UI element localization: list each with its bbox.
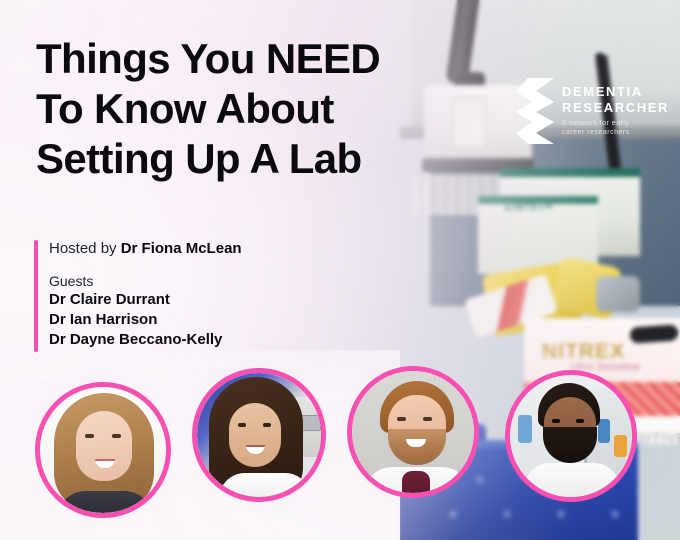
credits-body: Hosted by Dr Fiona McLean Guests Dr Clai… [34, 239, 354, 350]
avatar-eye-right [423, 417, 432, 421]
avatar-fiona-mclean [35, 382, 171, 518]
title-line-3: Setting Up A Lab [36, 134, 456, 184]
host-line: Hosted by Dr Fiona McLean [49, 239, 354, 259]
avatar-bg-bottle-2 [598, 419, 610, 443]
dementia-researcher-logo: DEMENTIA RESEARCHER A network for early … [516, 78, 666, 144]
avatar-dayne-beccano-kelly [505, 370, 637, 502]
podcast-cover: KIMTECH NITREX Ultra Sensitive EXAMINATI… [0, 0, 680, 540]
guest-name-1: Dr Claire Durrant [49, 290, 354, 310]
avatar-image [40, 387, 166, 513]
avatar-image [510, 375, 632, 497]
avatar-eye-right [576, 419, 584, 423]
zigzag-logo-icon [516, 78, 554, 144]
avatar-lab-coat [524, 463, 620, 497]
avatar-torso [56, 491, 154, 513]
avatar-eye-right [112, 434, 121, 438]
avatar-bg-bottle-3 [614, 435, 627, 457]
title-line-1: Things You NEED [36, 34, 456, 84]
credits-block: Hosted by Dr Fiona McLean Guests Dr Clai… [34, 239, 354, 350]
avatar-face [76, 411, 132, 481]
logo-line-1: DEMENTIA [562, 84, 669, 100]
host-name: Dr Fiona McLean [121, 240, 242, 257]
guest-name-3: Dr Dayne Beccano-Kelly [49, 330, 354, 350]
avatar-image [352, 371, 474, 493]
guests-label: Guests [49, 272, 354, 290]
avatar-bg-bottle-1 [518, 415, 532, 443]
avatar-ian-harrison [347, 366, 479, 498]
avatar-eye-left [397, 417, 406, 421]
avatar-claire-durrant [192, 368, 326, 502]
guest-name-2: Dr Ian Harrison [49, 310, 354, 330]
logo-tagline-1: A network for early [562, 119, 669, 128]
page-title: Things You NEED To Know About Setting Up… [36, 34, 456, 184]
hosted-by-label: Hosted by [49, 240, 121, 257]
avatar-shirt [402, 471, 430, 493]
title-line-2: To Know About [36, 84, 456, 134]
avatar-eye-right [263, 423, 271, 427]
credits-accent-bar [34, 240, 38, 352]
avatar-eye-left [85, 434, 94, 438]
avatar-image [197, 373, 321, 497]
logo-tagline-2: career researchers [562, 128, 669, 137]
avatar-face [229, 403, 281, 467]
avatar-lab-coat [219, 473, 311, 497]
avatar-eye-left [552, 419, 560, 423]
logo-wordmark: DEMENTIA RESEARCHER A network for early … [562, 84, 669, 137]
logo-line-2: RESEARCHER [562, 100, 669, 116]
avatar-eye-left [238, 423, 246, 427]
